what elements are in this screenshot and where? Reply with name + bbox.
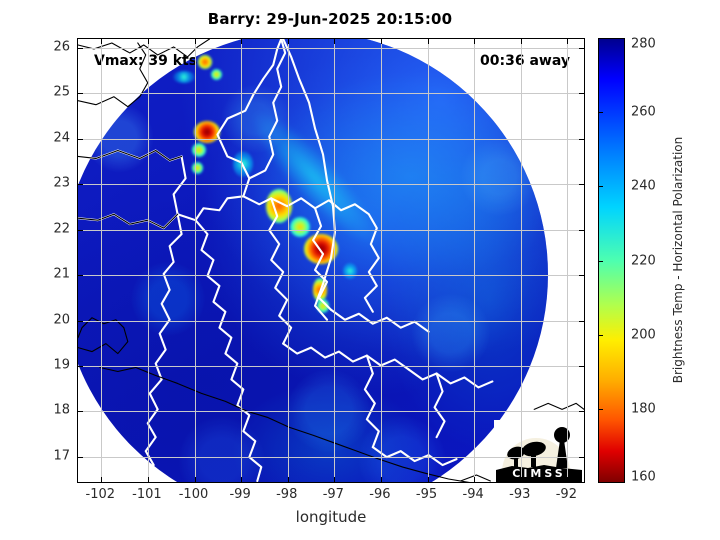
x-axis-tick <box>567 477 568 482</box>
x-axis-tick-label: -99 <box>229 487 250 502</box>
colorbar-tick-label: 240 <box>631 179 656 194</box>
y-axis-tick-label: 21 <box>53 267 70 282</box>
y-axis-tick <box>579 230 584 231</box>
x-axis-tick <box>148 39 149 44</box>
y-axis-tick <box>579 48 584 49</box>
y-axis-tick <box>579 275 584 276</box>
gridline-horizontal <box>78 48 584 49</box>
y-axis-tick-label: 25 <box>53 85 70 100</box>
colorbar-tick <box>598 112 603 113</box>
y-axis-tick <box>78 139 83 140</box>
gridline-vertical <box>334 39 335 482</box>
y-axis-tick <box>78 457 83 458</box>
y-axis-tick-label: 18 <box>53 403 70 418</box>
y-axis-tick <box>78 275 83 276</box>
x-axis-tick-label: -101 <box>132 487 162 502</box>
y-axis-tick-label: 26 <box>53 40 70 55</box>
map-plot-area[interactable]: Vmax: 39 kts 00:36 away <box>77 38 585 483</box>
x-axis-tick <box>521 39 522 44</box>
y-axis-tick <box>579 93 584 94</box>
time-away-annotation: 00:36 away <box>480 53 570 69</box>
x-axis-tick <box>521 477 522 482</box>
colorbar-tick-label: 200 <box>631 327 656 342</box>
gridline-vertical <box>288 39 289 482</box>
y-axis-tick-label: 20 <box>53 312 70 327</box>
map-overlay <box>78 39 584 482</box>
gridline-horizontal <box>78 139 584 140</box>
x-axis-title: longitude <box>77 508 585 526</box>
y-axis-tick <box>579 457 584 458</box>
y-axis-tick <box>78 230 83 231</box>
y-axis-tick <box>78 366 83 367</box>
y-axis-tick <box>579 139 584 140</box>
gridline-vertical <box>474 39 475 482</box>
colorbar-tick <box>598 335 603 336</box>
x-axis-tick <box>148 477 149 482</box>
colorbar-tick-label: 280 <box>631 37 656 52</box>
gridline-horizontal <box>78 411 584 412</box>
y-axis-tick-label: 24 <box>53 130 70 145</box>
x-axis-tick <box>195 477 196 482</box>
x-axis-tick <box>334 39 335 44</box>
colorbar-tick-label: 180 <box>631 401 656 416</box>
x-axis-tick <box>241 477 242 482</box>
x-axis-tick <box>428 39 429 44</box>
page-title: Barry: 29-Jun-2025 20:15:00 <box>0 10 660 28</box>
y-axis-tick <box>78 184 83 185</box>
y-axis-tick-label: 17 <box>53 448 70 463</box>
y-axis-title: latitude <box>0 231 2 289</box>
y-axis-tick-label: 22 <box>53 221 70 236</box>
x-axis-tick-label: -96 <box>369 487 390 502</box>
gridline-horizontal <box>78 457 584 458</box>
x-axis-tick <box>381 39 382 44</box>
gridline-vertical <box>241 39 242 482</box>
y-axis-tick <box>579 411 584 412</box>
y-axis-tick <box>78 411 83 412</box>
x-axis-tick <box>474 39 475 44</box>
gridline-horizontal <box>78 366 584 367</box>
gridline-horizontal <box>78 275 584 276</box>
x-axis-tick <box>288 477 289 482</box>
x-axis-tick <box>101 39 102 44</box>
x-axis-tick <box>195 39 196 44</box>
y-axis-tick <box>78 93 83 94</box>
x-axis-tick <box>101 477 102 482</box>
gridline-vertical <box>195 39 196 482</box>
x-axis-tick-label: -95 <box>416 487 437 502</box>
gridline-vertical <box>521 39 522 482</box>
x-axis-tick-label: -100 <box>179 487 209 502</box>
x-axis-tick <box>381 477 382 482</box>
cimss-logo: CIMSS <box>494 420 584 482</box>
state-boundaries-white <box>78 39 584 481</box>
x-axis-tick <box>567 39 568 44</box>
y-axis-tick <box>579 366 584 367</box>
y-axis-tick <box>78 321 83 322</box>
x-axis-tick <box>428 477 429 482</box>
colorbar-tick-label: 220 <box>631 253 656 268</box>
y-axis-tick-label: 19 <box>53 357 70 372</box>
x-axis-tick <box>241 39 242 44</box>
x-axis-tick-label: -92 <box>556 487 577 502</box>
colorbar-tick <box>598 186 603 187</box>
x-axis-tick <box>334 477 335 482</box>
y-axis-tick <box>579 184 584 185</box>
figure: Barry: 29-Jun-2025 20:15:00 longitude la… <box>0 0 720 540</box>
gridline-vertical <box>428 39 429 482</box>
x-axis-tick-label: -93 <box>509 487 530 502</box>
gridline-vertical <box>101 39 102 482</box>
x-axis-tick <box>474 477 475 482</box>
vmax-annotation: Vmax: 39 kts <box>94 53 197 69</box>
y-axis-tick <box>579 321 584 322</box>
gridline-vertical <box>381 39 382 482</box>
colorbar-tick <box>598 409 603 410</box>
x-axis-tick-label: -94 <box>463 487 484 502</box>
colorbar[interactable]: 280260240220200180160 <box>598 38 625 483</box>
colorbar-tick-label: 160 <box>631 470 656 485</box>
gridline-horizontal <box>78 184 584 185</box>
colorbar-title: Brightness Temp - Horizontal Polarizatio… <box>671 137 685 384</box>
x-axis-tick-label: -102 <box>86 487 116 502</box>
gridline-horizontal <box>78 321 584 322</box>
y-axis-tick-label: 23 <box>53 176 70 191</box>
gridline-horizontal <box>78 230 584 231</box>
colorbar-tick-label: 260 <box>631 105 656 120</box>
y-axis-tick <box>78 48 83 49</box>
gridline-vertical <box>567 39 568 482</box>
colorbar-tick <box>598 261 603 262</box>
cimss-logo-text: CIMSS <box>494 467 584 480</box>
x-axis-tick-label: -97 <box>323 487 344 502</box>
gridline-vertical <box>148 39 149 482</box>
x-axis-tick-label: -98 <box>276 487 297 502</box>
gridline-horizontal <box>78 93 584 94</box>
x-axis-tick <box>288 39 289 44</box>
